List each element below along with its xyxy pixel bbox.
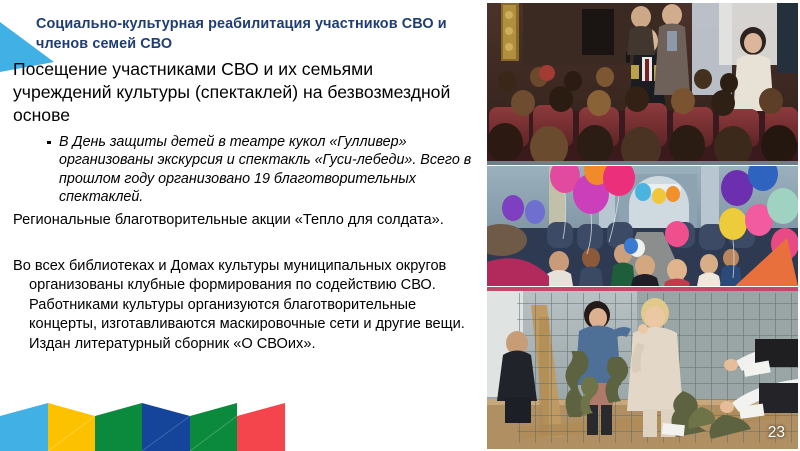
chevron-green — [95, 403, 142, 451]
photo-auditorium — [487, 3, 798, 165]
slide-body: Посещение участниками СВО и их семьями у… — [13, 58, 475, 403]
photo-netweaving — [487, 287, 798, 449]
chevron-yellow — [48, 403, 95, 451]
page-number: 23 — [768, 424, 785, 442]
paragraph-libraries: Во всех библиотеках и Домах культуры мун… — [13, 257, 475, 355]
list-item: В День защиты детей в театре кукол «Гулл… — [47, 133, 475, 207]
footer-decoration — [0, 403, 300, 451]
bullet-list: В День защиты детей в театре кукол «Гулл… — [13, 133, 475, 207]
paragraph-regional-actions: Региональные благотворительные акции «Те… — [13, 211, 475, 231]
chevron-red — [237, 403, 285, 451]
photo-balloons — [487, 166, 798, 286]
slide-title-block: Социально-культурная реабилитация участн… — [36, 14, 466, 55]
slide-title: Социально-культурная реабилитация участн… — [36, 14, 466, 55]
presentation-slide: Социально-культурная реабилитация участн… — [0, 0, 800, 451]
chevron-lightblue — [0, 403, 48, 451]
chevron-green-2 — [190, 403, 237, 451]
chevron-blue — [142, 403, 190, 451]
lead-paragraph: Посещение участниками СВО и их семьями у… — [13, 58, 475, 127]
photo-column: 23 — [487, 3, 798, 449]
